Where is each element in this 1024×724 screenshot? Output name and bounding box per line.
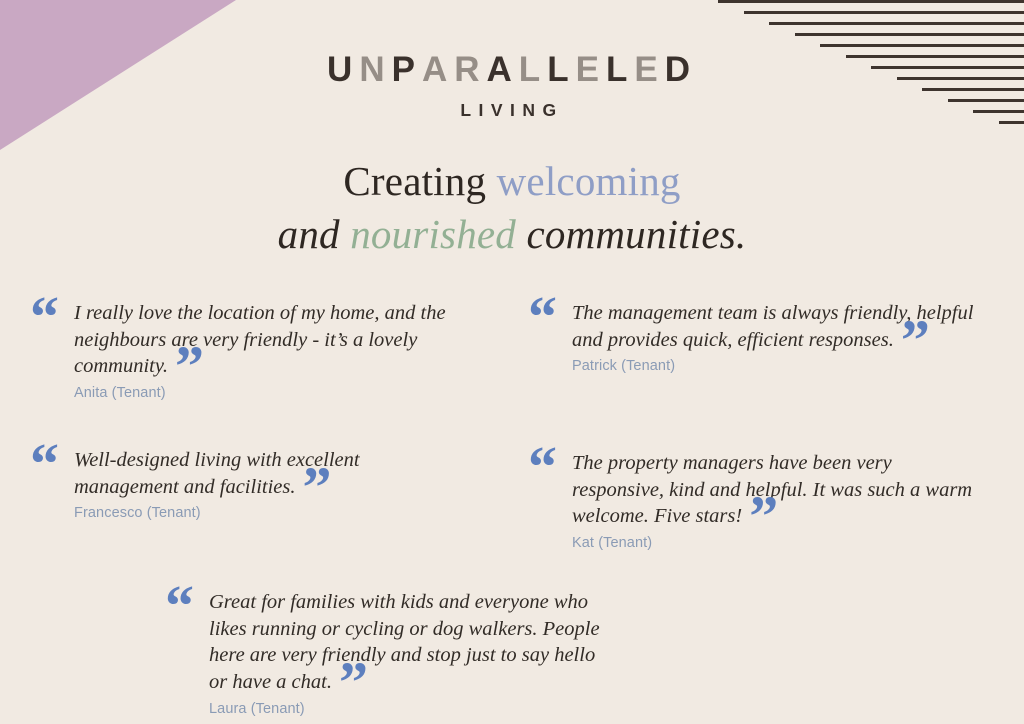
wordmark-letter: L	[606, 52, 634, 87]
testimonial-author: Francesco (Tenant)	[74, 505, 450, 521]
testimonial-quote: “The management team is always friendly,…	[528, 300, 978, 353]
testimonial-author: Kat (Tenant)	[572, 535, 988, 551]
wordmark-letter: E	[634, 52, 664, 87]
wordmark-letter: R	[454, 52, 486, 87]
decorative-stripe	[820, 44, 1024, 47]
testimonial-quote-text: Great for families with kids and everyon…	[209, 591, 600, 693]
headline-accent-welcoming: welcoming	[497, 158, 681, 204]
testimonial-poster: UNPARALLELED LIVING Creating welcoming a…	[0, 0, 1024, 724]
testimonial-card: “Well-designed living with excellent man…	[30, 447, 450, 521]
decorative-stripe	[999, 121, 1024, 124]
wordmark-letter: U	[327, 52, 359, 87]
quote-open-icon: “	[528, 438, 556, 496]
quote-open-icon: “	[30, 288, 58, 346]
decorative-stripe	[769, 22, 1024, 25]
testimonial-quote: “I really love the location of my home, …	[30, 300, 470, 380]
wordmark-letter: N	[359, 52, 391, 87]
brand-wordmark: UNPARALLELED	[327, 52, 697, 87]
wordmark-letter: L	[547, 52, 575, 87]
headline-accent-nourished: nourished	[350, 211, 516, 257]
wordmark-letter: D	[665, 52, 697, 87]
wordmark-letter: A	[487, 52, 519, 87]
page-headline: Creating welcoming and nourished communi…	[0, 155, 1024, 262]
brand-logo: UNPARALLELED LIVING	[0, 52, 1024, 121]
decorative-stripe	[744, 11, 1024, 14]
testimonial-quote: “Great for families with kids and everyo…	[165, 589, 615, 696]
wordmark-letter: P	[392, 52, 422, 87]
decorative-stripe	[718, 0, 1024, 3]
wordmark-letter: L	[519, 52, 547, 87]
decorative-stripe	[795, 33, 1024, 36]
quote-open-icon: “	[528, 288, 556, 346]
wordmark-letter: E	[576, 52, 606, 87]
headline-line-1: Creating welcoming	[0, 155, 1024, 208]
testimonial-quote: “Well-designed living with excellent man…	[30, 447, 450, 500]
headline-line1-text: Creating	[343, 158, 496, 204]
brand-subword: LIVING	[0, 100, 1024, 121]
wordmark-letter: A	[422, 52, 454, 87]
headline-line2-text-after: communities.	[516, 211, 746, 257]
testimonial-author: Laura (Tenant)	[209, 701, 615, 717]
quote-open-icon: “	[165, 577, 193, 635]
testimonial-card: “Great for families with kids and everyo…	[165, 589, 615, 717]
testimonial-card: “The property managers have been very re…	[528, 450, 988, 551]
testimonial-quote: “The property managers have been very re…	[528, 450, 988, 530]
testimonial-quote-text: I really love the location of my home, a…	[74, 302, 446, 377]
testimonial-author: Anita (Tenant)	[74, 385, 470, 401]
headline-line-2: and nourished communities.	[0, 208, 1024, 261]
testimonial-card: “I really love the location of my home, …	[30, 300, 470, 401]
quote-open-icon: “	[30, 435, 58, 493]
testimonial-card: “The management team is always friendly,…	[528, 300, 978, 374]
headline-line2-text-before: and	[278, 211, 351, 257]
